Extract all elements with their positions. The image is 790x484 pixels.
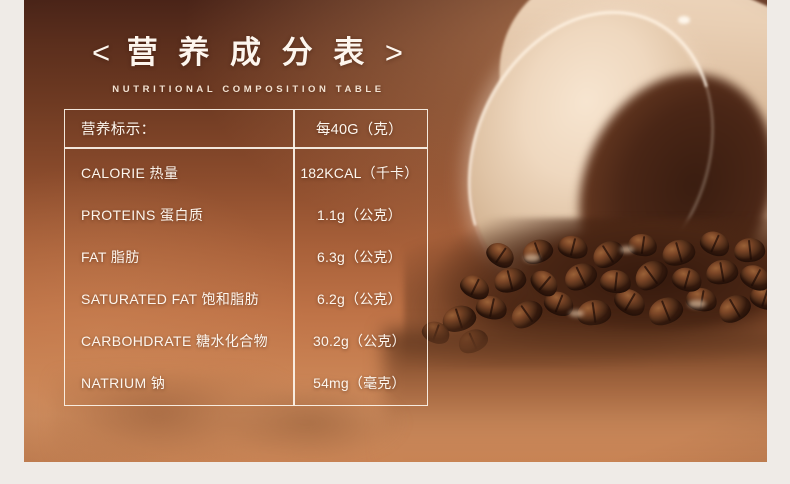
table-row: CARBOHDRATE 糖水化合物 30.2g（公克） [65, 320, 427, 362]
nutrient-label: SATURATED FAT 饱和脂肪 [65, 289, 292, 309]
table-row: CALORIE 热量 182KCAL（千卡） [65, 152, 427, 194]
page-title: < 营 养 成 分 表 > [0, 0, 620, 72]
nutrient-value: 182KCAL（千卡） [292, 163, 427, 183]
nutrient-label: CALORIE 热量 [65, 163, 292, 183]
title-close-bracket: > [385, 35, 405, 70]
table-header-value: 每40G（克） [292, 118, 427, 139]
heading-block: < 营 养 成 分 表 > NUTRITIONAL COMPOSITION TA… [24, 0, 767, 95]
table-header-divider [65, 147, 427, 149]
title-open-bracket: < [92, 35, 112, 70]
nutrient-label: CARBOHDRATE 糖水化合物 [65, 331, 292, 351]
table-row: NATRIUM 钠 54mg（毫克） [65, 362, 427, 404]
nutrient-label: NATRIUM 钠 [65, 373, 292, 393]
nutrient-label: PROTEINS 蛋白质 [65, 205, 292, 225]
nutrient-value: 1.1g（公克） [292, 205, 427, 225]
title-text: 营 养 成 分 表 [127, 35, 370, 70]
nutrient-value: 6.2g（公克） [292, 289, 427, 309]
page-subtitle: NUTRITIONAL COMPOSITION TABLE [0, 72, 620, 95]
nutrient-value: 30.2g（公克） [292, 331, 427, 351]
nutrient-value: 6.3g（公克） [292, 247, 427, 267]
table-header-row: 营养标示： 每40G（克） [65, 110, 427, 147]
table-row: SATURATED FAT 饱和脂肪 6.2g（公克） [65, 278, 427, 320]
nutrition-table: 营养标示： 每40G（克） CALORIE 热量 182KCAL（千卡） PRO… [64, 109, 428, 406]
table-row: FAT 脂肪 6.3g（公克） [65, 236, 427, 278]
poster-canvas: < 营 养 成 分 表 > NUTRITIONAL COMPOSITION TA… [0, 0, 790, 484]
nutrient-value: 54mg（毫克） [292, 373, 427, 393]
nutrient-label: FAT 脂肪 [65, 247, 292, 267]
table-row: PROTEINS 蛋白质 1.1g（公克） [65, 194, 427, 236]
table-header-label: 营养标示： [65, 118, 292, 139]
